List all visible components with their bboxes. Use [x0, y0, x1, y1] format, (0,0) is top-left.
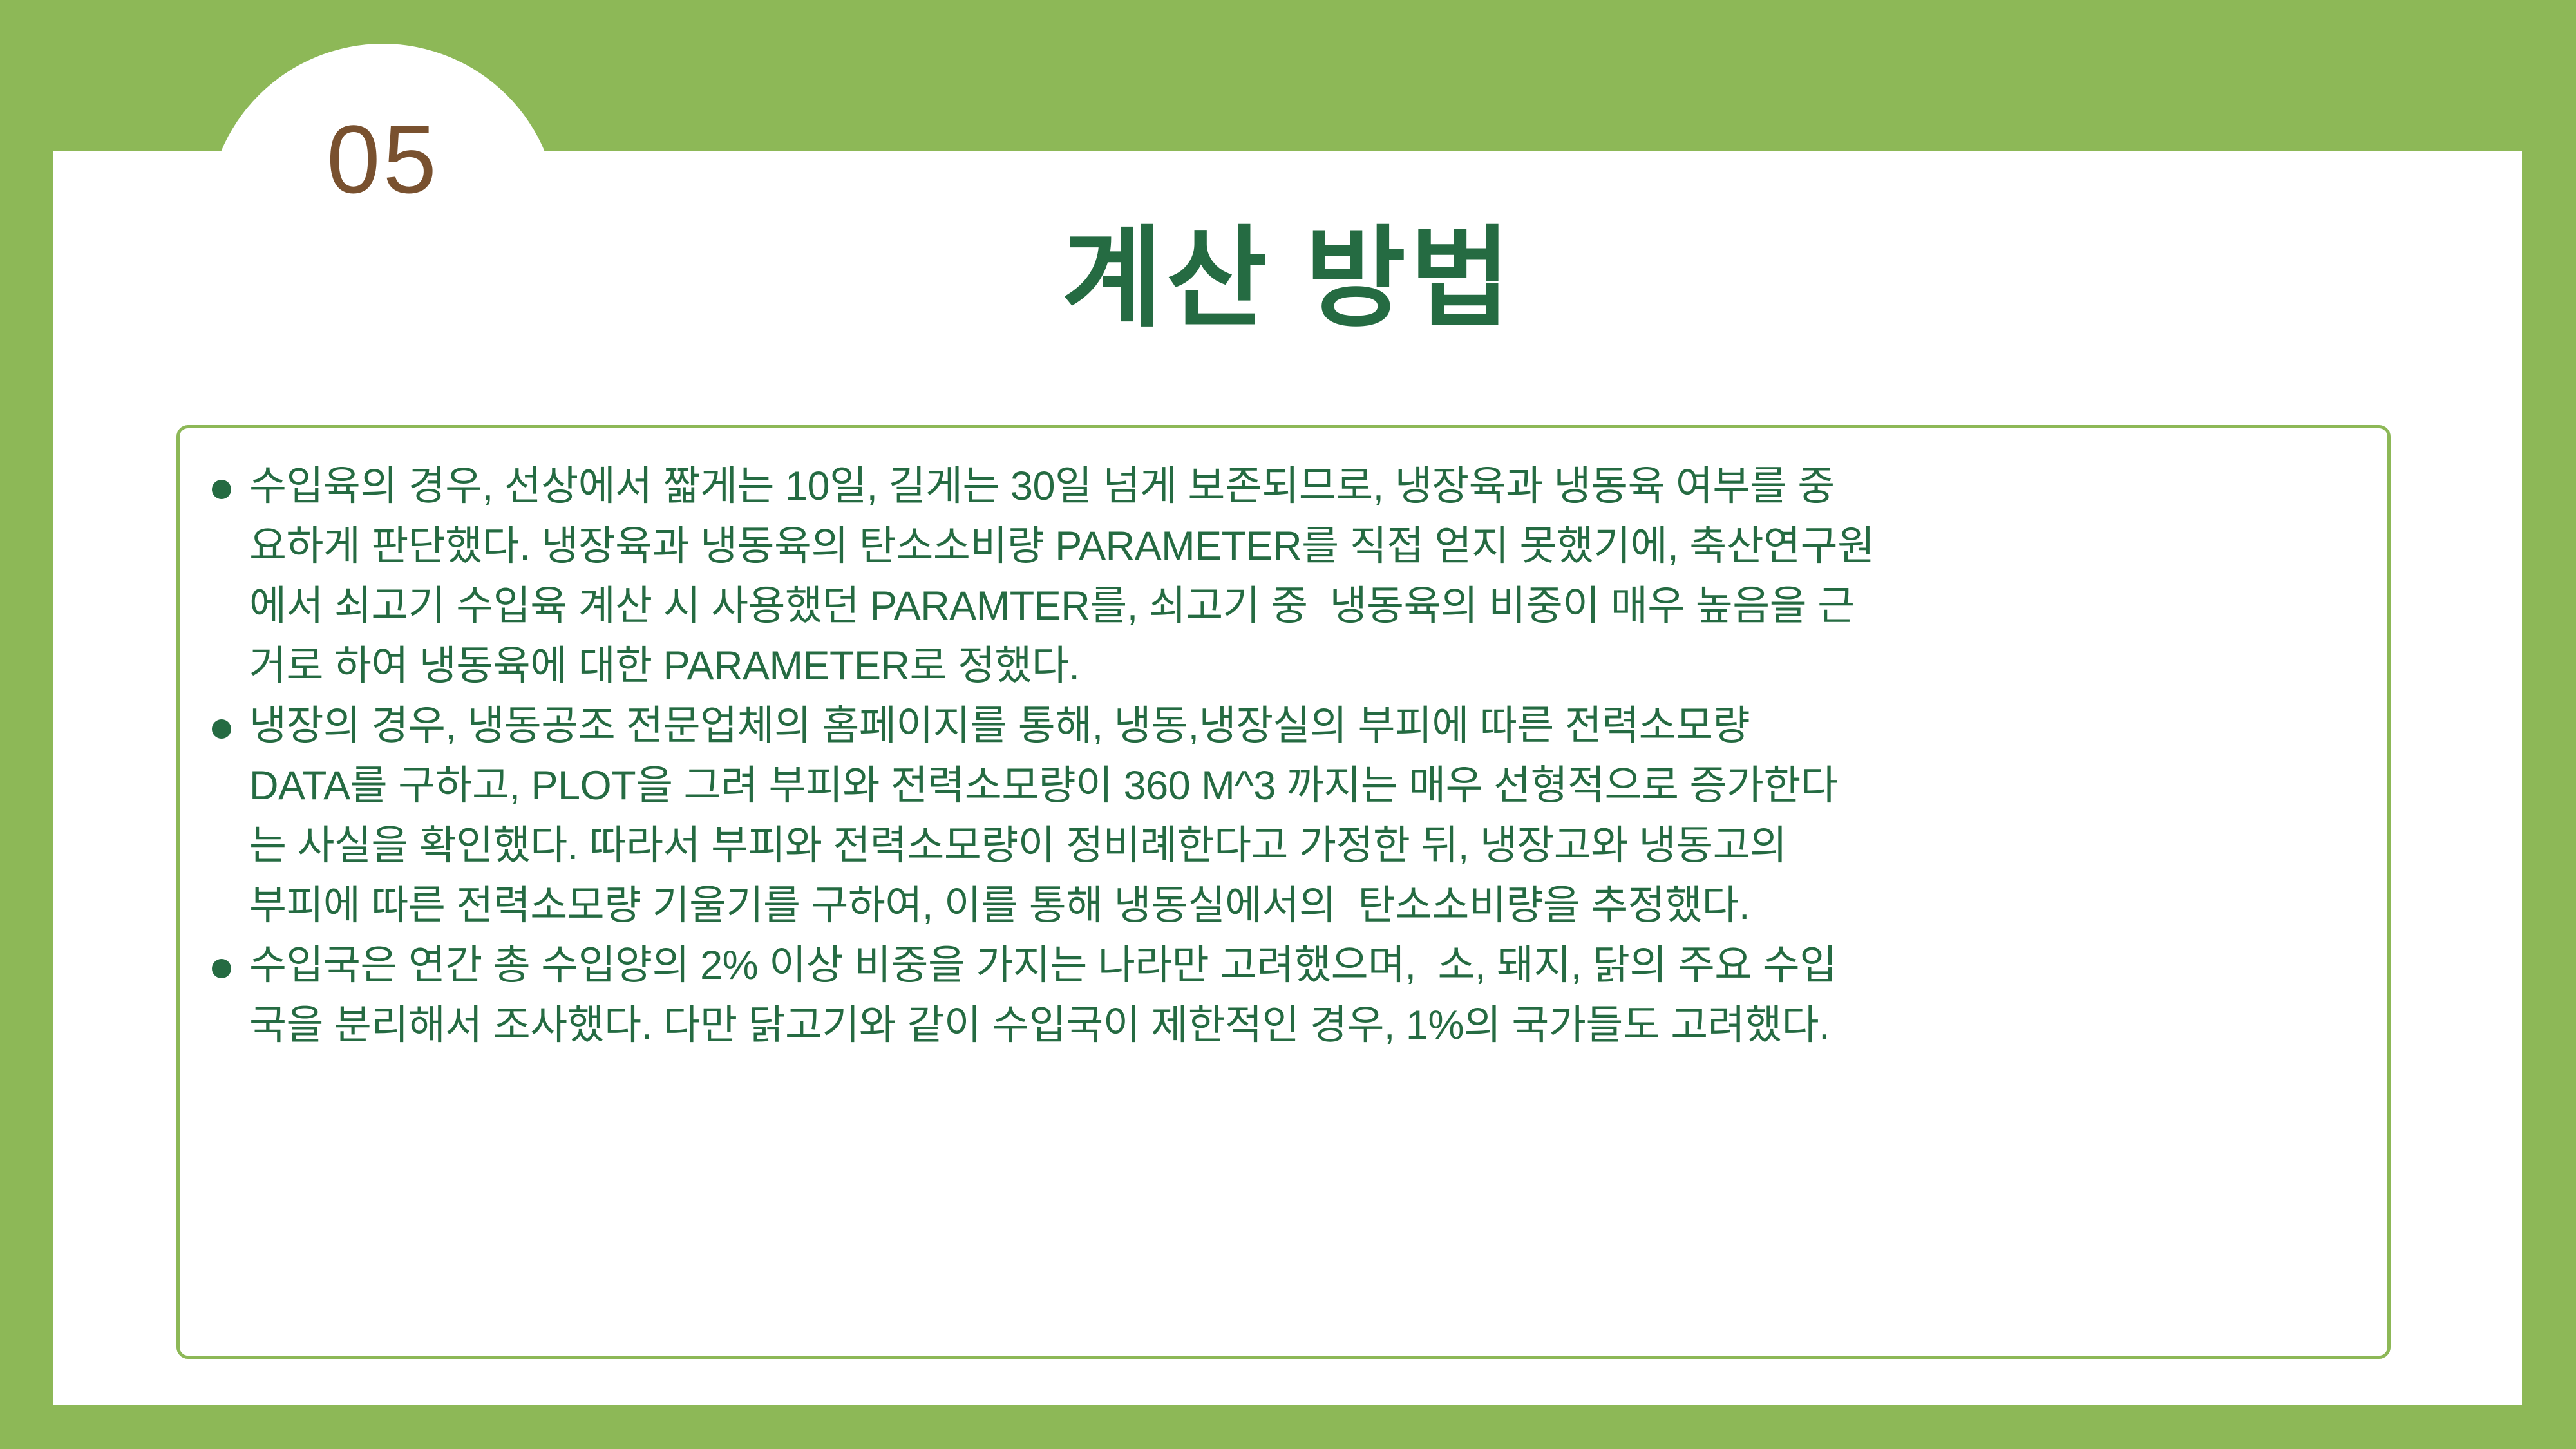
bullet-dot-icon [212, 480, 231, 499]
list-item: 수입국은 연간 총 수입양의 2% 이상 비중을 가지는 나라만 고려했으며, … [200, 936, 2371, 1056]
slide-root: 05 계산 방법 수입육의 경우, 선상에서 짧게는 10일, 길게는 30일 … [0, 0, 2576, 1449]
list-item-text: 수입국은 연간 총 수입양의 2% 이상 비중을 가지는 나라만 고려했으며, … [249, 936, 2371, 1056]
list-item-line: DATA를 구하고, PLOT을 그려 부피와 전력소모량이 360 M^3 까… [249, 756, 2371, 816]
section-number: 05 [207, 111, 558, 207]
bullet-dot-icon [212, 719, 231, 739]
list-item-line: 에서 쇠고기 수입육 계산 시 사용했던 PARAMTER를, 쇠고기 중 냉동… [249, 576, 2371, 636]
content-box: 수입육의 경우, 선상에서 짧게는 10일, 길게는 30일 넘게 보존되므로,… [176, 425, 2391, 1359]
list-item-line: 는 사실을 확인했다. 따라서 부피와 전력소모량이 정비례한다고 가정한 뒤,… [249, 816, 2371, 876]
list-item-line: 수입육의 경우, 선상에서 짧게는 10일, 길게는 30일 넘게 보존되므로,… [249, 457, 2371, 516]
list-item-text: 냉장의 경우, 냉동공조 전문업체의 홈페이지를 통해, 냉동,냉장실의 부피에… [249, 696, 2371, 936]
page-title: 계산 방법 [0, 219, 2576, 339]
bullet-dot-icon [212, 959, 231, 978]
list-item-line: 거로 하여 냉동육에 대한 PARAMETER로 정했다. [249, 636, 2371, 696]
list-item-line: 국을 분리해서 조사했다. 다만 닭고기와 같이 수입국이 제한적인 경우, 1… [249, 996, 2371, 1056]
list-item-line: 요하게 판단했다. 냉장육과 냉동육의 탄소소비량 PARAMETER를 직접 … [249, 516, 2371, 576]
list-item-line: 수입국은 연간 총 수입양의 2% 이상 비중을 가지는 나라만 고려했으며, … [249, 936, 2371, 996]
list-item-text: 수입육의 경우, 선상에서 짧게는 10일, 길게는 30일 넘게 보존되므로,… [249, 457, 2371, 696]
list-item-line: 냉장의 경우, 냉동공조 전문업체의 홈페이지를 통해, 냉동,냉장실의 부피에… [249, 696, 2371, 756]
list-item-line: 부피에 따른 전력소모량 기울기를 구하여, 이를 통해 냉동실에서의 탄소소비… [249, 876, 2371, 936]
bullet-list: 수입육의 경우, 선상에서 짧게는 10일, 길게는 30일 넘게 보존되므로,… [200, 457, 2371, 1056]
list-item: 냉장의 경우, 냉동공조 전문업체의 홈페이지를 통해, 냉동,냉장실의 부피에… [200, 696, 2371, 936]
list-item: 수입육의 경우, 선상에서 짧게는 10일, 길게는 30일 넘게 보존되므로,… [200, 457, 2371, 696]
